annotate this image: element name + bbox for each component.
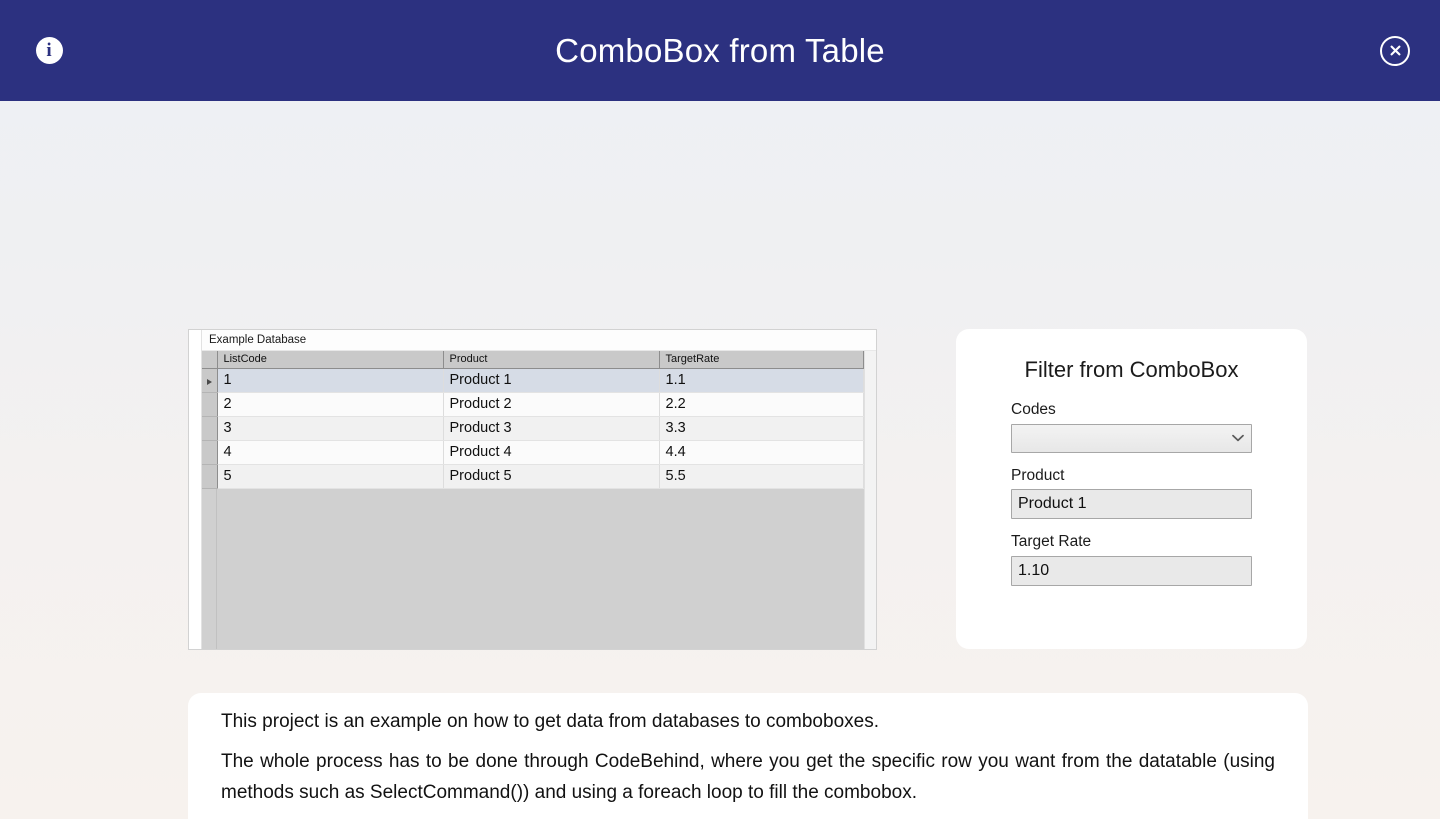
grid-empty-body	[217, 489, 864, 650]
target-rate-field[interactable]: 1.10	[1011, 556, 1252, 586]
close-button[interactable]	[1377, 33, 1413, 69]
row-marker[interactable]	[202, 440, 217, 464]
table-row[interactable]: 3 Product 3 3.3	[202, 416, 864, 440]
column-header-listcode[interactable]: ListCode	[217, 351, 443, 368]
description-panel: This project is an example on how to get…	[188, 693, 1308, 819]
info-icon-glyph: i	[46, 41, 51, 60]
grid-vertical-scrollbar[interactable]	[864, 351, 876, 649]
description-paragraph-2: The whole process has to be done through…	[221, 747, 1275, 809]
title-bar: i ComboBox from Table	[0, 0, 1440, 101]
cell-product[interactable]: Product 2	[443, 392, 659, 416]
codes-combobox[interactable]	[1011, 424, 1252, 453]
cell-targetrate[interactable]: 4.4	[659, 440, 864, 464]
codes-label: Codes	[1011, 401, 1252, 420]
grid-corner-header[interactable]	[202, 351, 217, 368]
info-icon: i	[36, 37, 63, 64]
cell-targetrate[interactable]: 5.5	[659, 464, 864, 488]
cell-product[interactable]: Product 1	[443, 368, 659, 392]
table-row[interactable]: 2 Product 2 2.2	[202, 392, 864, 416]
row-marker[interactable]	[202, 368, 217, 392]
page-title: ComboBox from Table	[555, 34, 885, 67]
grid-body: ListCode Product TargetRate 1	[202, 351, 876, 649]
filter-panel-title: Filter from ComboBox	[956, 357, 1307, 383]
cell-listcode[interactable]: 4	[217, 440, 443, 464]
grid-table: ListCode Product TargetRate 1	[202, 351, 864, 489]
cell-targetrate[interactable]: 3.3	[659, 416, 864, 440]
chevron-down-icon[interactable]	[1225, 434, 1251, 442]
grid-header-row: ListCode Product TargetRate	[202, 351, 864, 368]
row-marker[interactable]	[202, 416, 217, 440]
cell-product[interactable]: Product 4	[443, 440, 659, 464]
cell-product[interactable]: Product 3	[443, 416, 659, 440]
grid-main: Example Database ListCod	[202, 330, 876, 649]
table-row[interactable]: 4 Product 4 4.4	[202, 440, 864, 464]
column-header-product[interactable]: Product	[443, 351, 659, 368]
cell-targetrate[interactable]: 2.2	[659, 392, 864, 416]
cell-product[interactable]: Product 5	[443, 464, 659, 488]
grid-empty-gutter	[202, 489, 217, 650]
grid-left-scrollbar[interactable]	[189, 330, 202, 649]
table-row[interactable]: 1 Product 1 1.1	[202, 368, 864, 392]
product-field[interactable]: Product 1	[1011, 489, 1252, 519]
filter-fields: Codes Product Product 1 Target Rate 1.10	[956, 401, 1307, 586]
grid-table-area: ListCode Product TargetRate 1	[202, 351, 864, 649]
row-marker[interactable]	[202, 392, 217, 416]
grid-rows: 1 Product 1 1.1 2 Product 2 2.2	[202, 368, 864, 488]
info-button[interactable]: i	[32, 34, 66, 68]
cell-listcode[interactable]: 1	[217, 368, 443, 392]
cell-targetrate[interactable]: 1.1	[659, 368, 864, 392]
column-header-targetrate[interactable]: TargetRate	[659, 351, 864, 368]
grid-caption: Example Database	[202, 330, 876, 351]
cell-listcode[interactable]: 5	[217, 464, 443, 488]
table-row[interactable]: 5 Product 5 5.5	[202, 464, 864, 488]
row-marker[interactable]	[202, 464, 217, 488]
close-icon	[1380, 36, 1410, 66]
target-rate-label: Target Rate	[1011, 533, 1252, 552]
data-grid[interactable]: Example Database ListCod	[188, 329, 877, 650]
grid-empty-area	[202, 489, 864, 650]
current-row-arrow-icon	[207, 379, 212, 385]
cell-listcode[interactable]: 2	[217, 392, 443, 416]
filter-panel: Filter from ComboBox Codes Product Produ…	[956, 329, 1307, 649]
cell-listcode[interactable]: 3	[217, 416, 443, 440]
product-label: Product	[1011, 467, 1252, 486]
description-paragraph-1: This project is an example on how to get…	[221, 707, 1275, 738]
content-area: Example Database ListCod	[0, 101, 1440, 819]
